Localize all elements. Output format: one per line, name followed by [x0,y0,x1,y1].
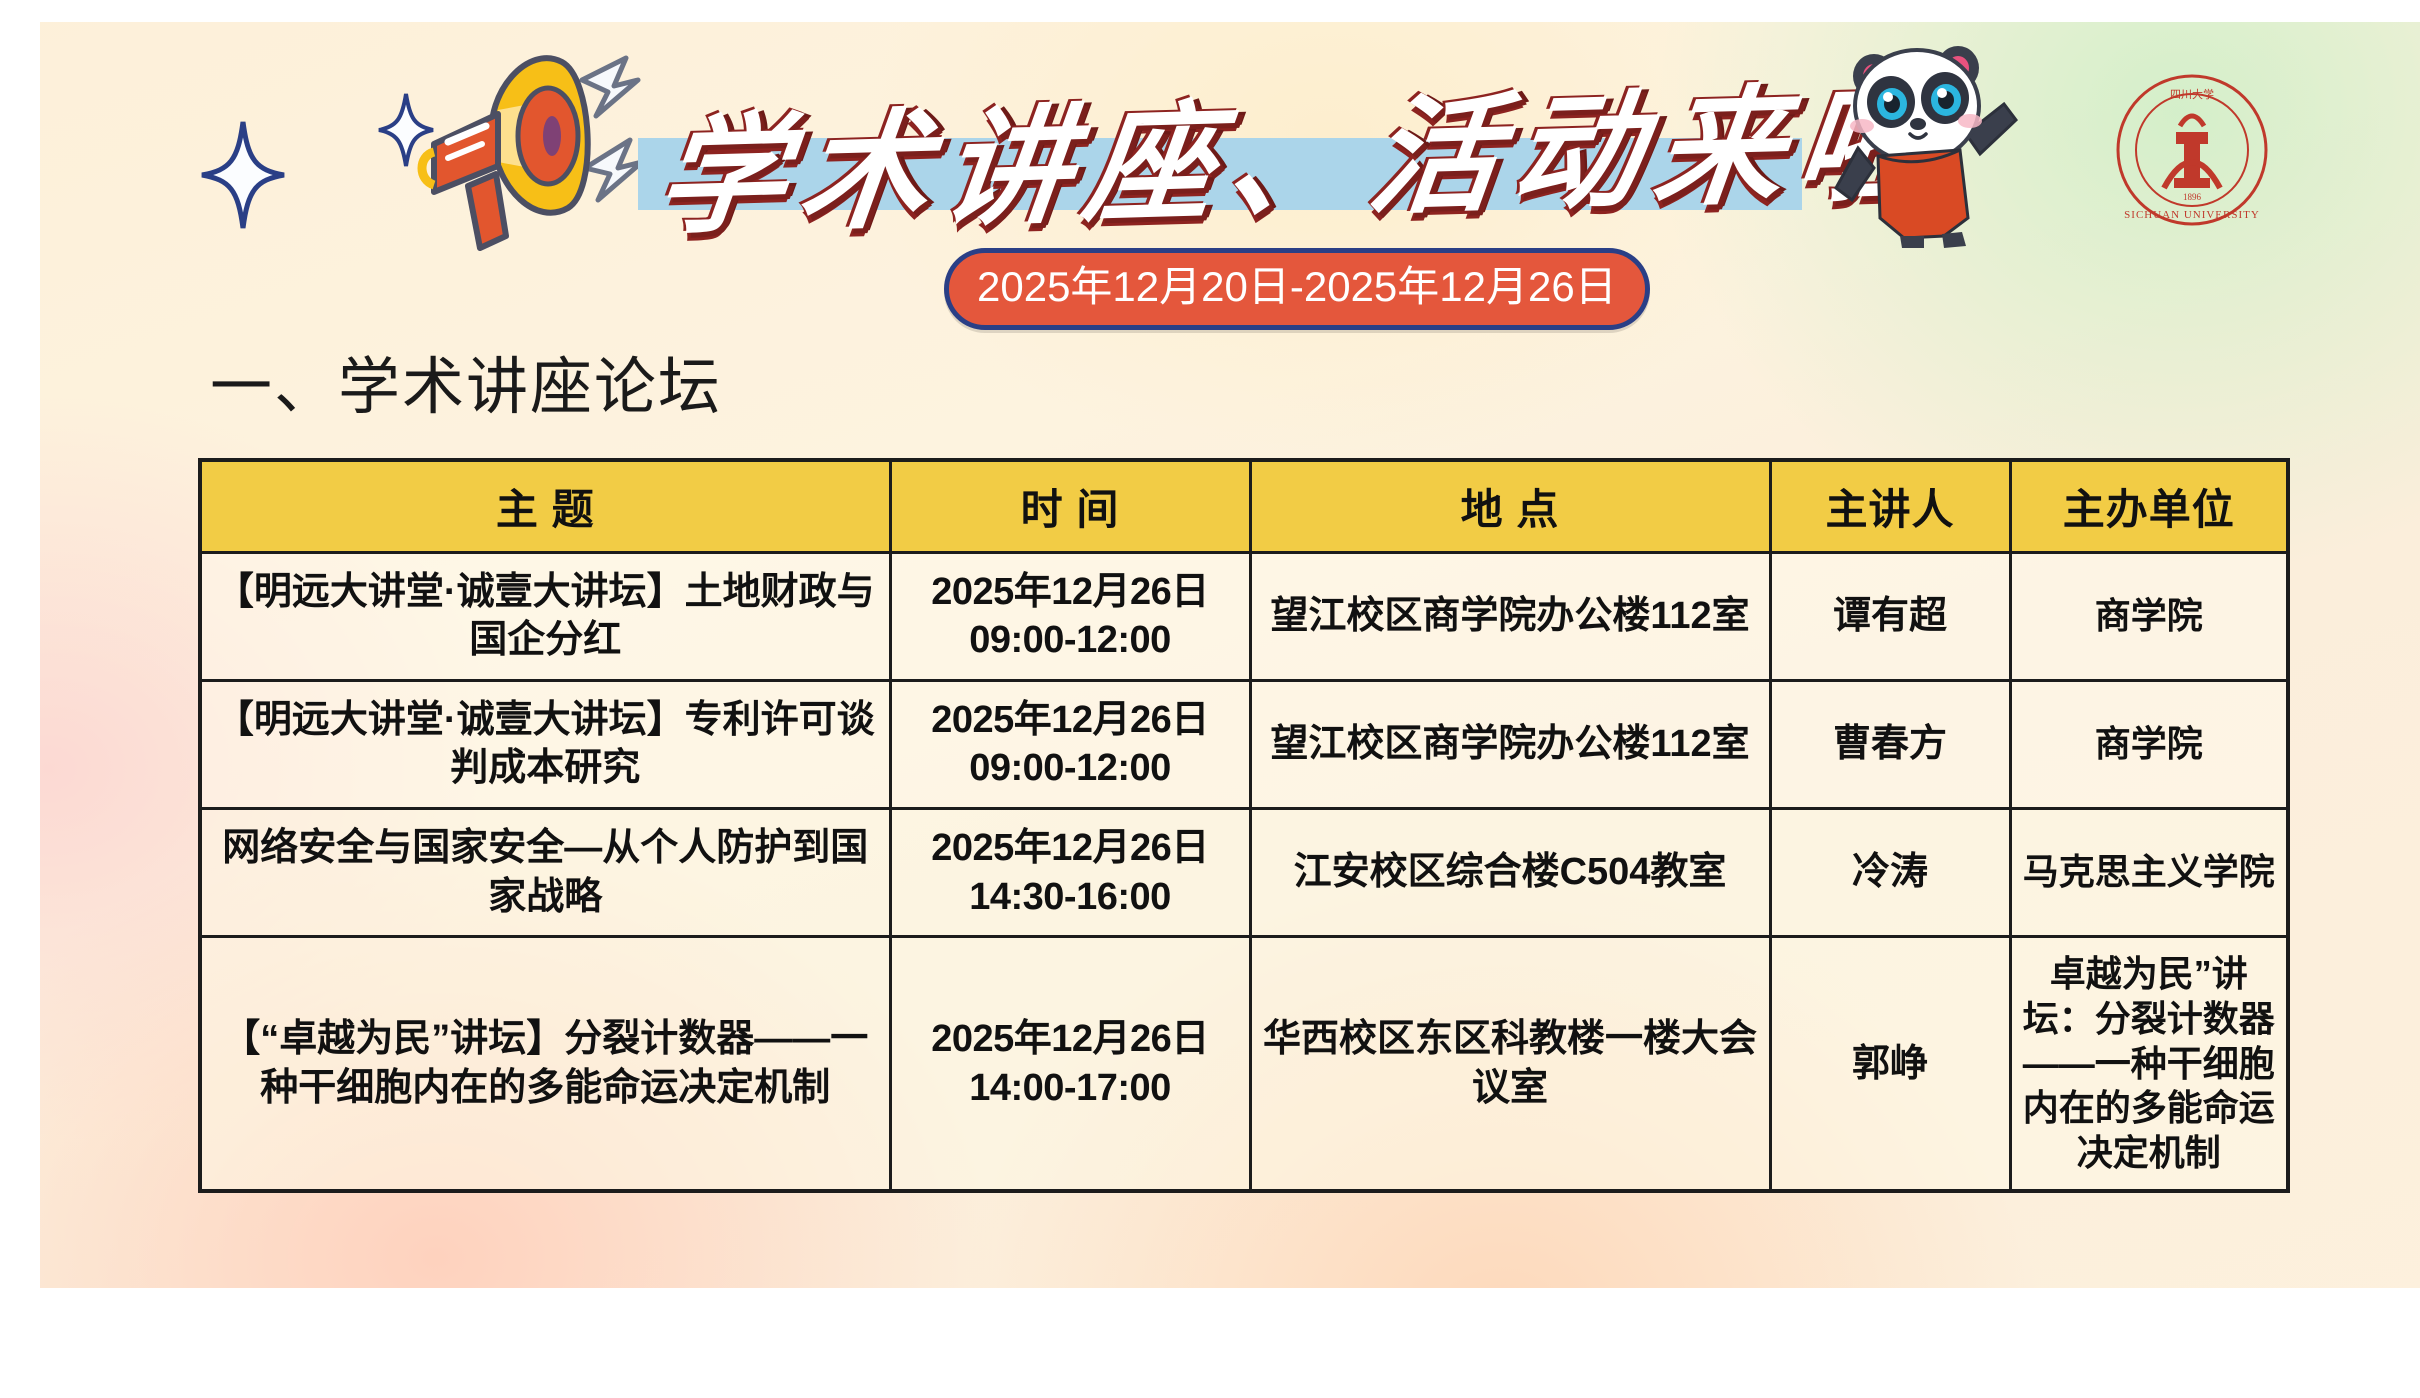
column-header-speaker: 主讲人 [1770,460,2010,552]
cell-time: 2025年12月26日 09:00-12:00 [890,680,1250,808]
cell-speaker: 郭峥 [1770,937,2010,1192]
table-row: 【“卓越为民”讲坛】分裂计数器——一种干细胞内在的多能命运决定机制 2025年1… [200,937,2288,1192]
table-row: 网络安全与国家安全—从个人防护到国家战略 2025年12月26日 14:30-1… [200,809,2288,937]
cell-topic: 【“卓越为民”讲坛】分裂计数器——一种干细胞内在的多能命运决定机制 [200,937,890,1192]
cell-time: 2025年12月26日 14:30-16:00 [890,809,1250,937]
date-range-badge: 2025年12月20日-2025年12月26日 [944,248,1650,330]
cell-host: 商学院 [2010,680,2288,808]
slide-edge-bottom [0,1288,2420,1398]
schedule-table-wrapper: 主 题 时 间 地 点 主讲人 主办单位 【明远大讲堂·诚壹大讲坛】土地财政与国… [198,458,2286,1193]
cell-topic: 网络安全与国家安全—从个人防护到国家战略 [200,809,890,937]
sparkle-star-large-icon [200,120,286,230]
table-row: 【明远大讲堂·诚壹大讲坛】专利许可谈判成本研究 2025年12月26日 09:0… [200,680,2288,808]
schedule-table: 主 题 时 间 地 点 主讲人 主办单位 【明远大讲堂·诚壹大讲坛】土地财政与国… [198,458,2290,1193]
panda-mascot-icon [1818,28,2028,248]
cell-time: 2025年12月26日 09:00-12:00 [890,552,1250,680]
column-header-topic: 主 题 [200,460,890,552]
cell-speaker: 曹春方 [1770,680,2010,808]
cell-speaker: 冷涛 [1770,809,2010,937]
cell-host: 马克思主义学院 [2010,809,2288,937]
cell-place: 望江校区商学院办公楼112室 [1250,552,1770,680]
cell-topic: 【明远大讲堂·诚壹大讲坛】土地财政与国企分红 [200,552,890,680]
column-header-place: 地 点 [1250,460,1770,552]
slide-edge-top [0,0,2420,22]
table-row: 【明远大讲堂·诚壹大讲坛】土地财政与国企分红 2025年12月26日 09:00… [200,552,2288,680]
cell-place: 望江校区商学院办公楼112室 [1250,680,1770,808]
cell-topic: 【明远大讲堂·诚壹大讲坛】专利许可谈判成本研究 [200,680,890,808]
cell-time: 2025年12月26日 14:00-17:00 [890,937,1250,1192]
cell-place: 华西校区东区科教楼一楼大会议室 [1250,937,1770,1192]
table-header-row: 主 题 时 间 地 点 主讲人 主办单位 [200,460,2288,552]
page-title: 学术讲座、活动来啦 [649,66,1811,258]
section-heading: 一、学术讲座论坛 [210,336,722,426]
slide-edge-left [0,0,40,1290]
logo-year: 1896 [2183,192,2202,202]
cell-place: 江安校区综合楼C504教室 [1250,809,1770,937]
poster-canvas: 学术讲座、活动来啦 2025年12月20日-2025年12月26日 [0,0,2420,1398]
logo-name-cn: 四川大学 [2170,87,2214,101]
column-header-time: 时 间 [890,460,1250,552]
cell-host: 卓越为民”讲坛：分裂计数器——一种干细胞内在的多能命运决定机制 [2010,937,2288,1192]
megaphone-icon [330,40,650,270]
sichuan-university-logo: 1896 四川大学 SICHUAN UNIVERSITY [2114,72,2270,228]
column-header-host: 主办单位 [2010,460,2288,552]
cell-host: 商学院 [2010,552,2288,680]
cell-speaker: 谭有超 [1770,552,2010,680]
logo-name-en: SICHUAN UNIVERSITY [2124,209,2260,221]
